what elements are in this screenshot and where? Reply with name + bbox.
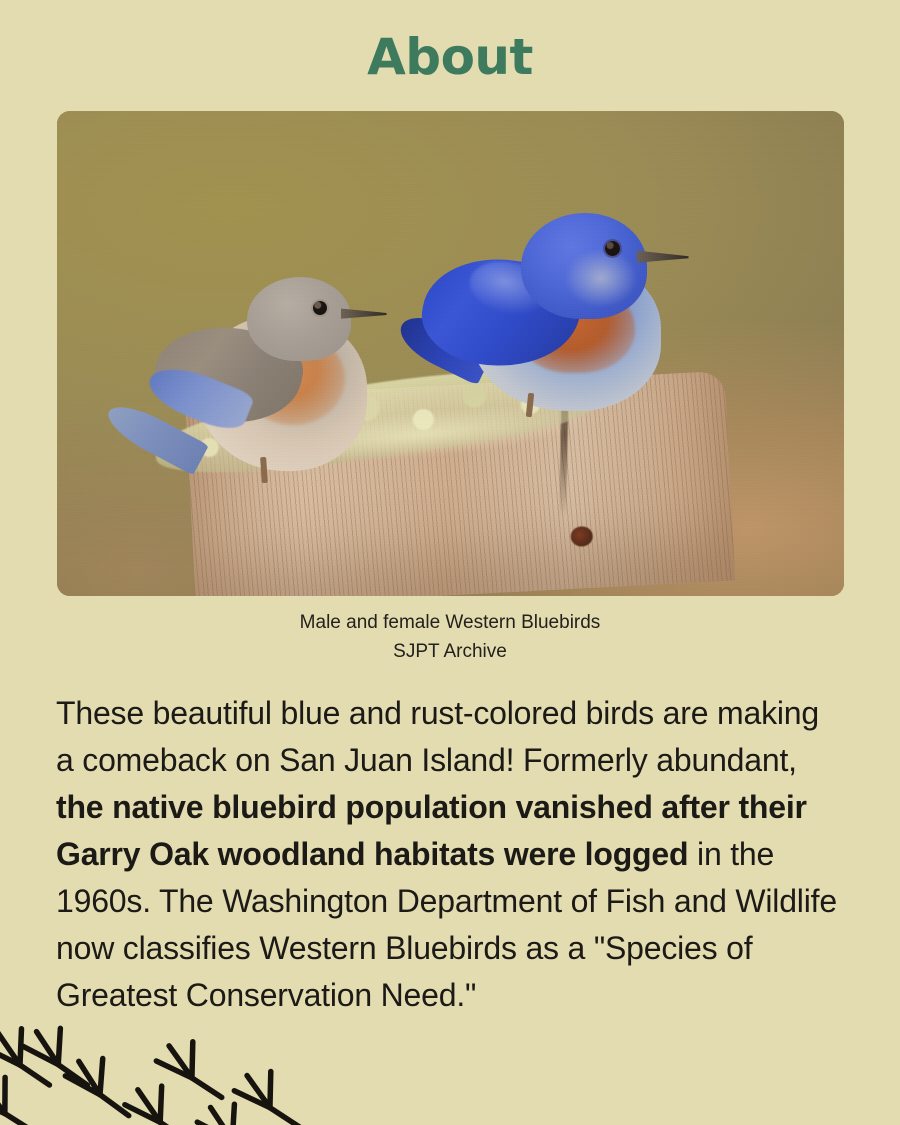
caption-line-2: SJPT Archive [0, 637, 900, 666]
page-title: About [0, 0, 900, 82]
about-paragraph: These beautiful blue and rust-colored bi… [56, 690, 844, 1019]
bluebird-figure: Male and female Western Bluebirds SJPT A… [0, 111, 900, 666]
bird-footprints-icon [0, 1015, 320, 1125]
bluebird-photo [57, 111, 844, 596]
paragraph-text-lead: These beautiful blue and rust-colored bi… [56, 695, 819, 778]
figure-caption: Male and female Western Bluebirds SJPT A… [0, 608, 900, 666]
caption-line-1: Male and female Western Bluebirds [0, 608, 900, 637]
photo-grain [57, 111, 844, 596]
bird-footprints-decoration [0, 1015, 320, 1125]
